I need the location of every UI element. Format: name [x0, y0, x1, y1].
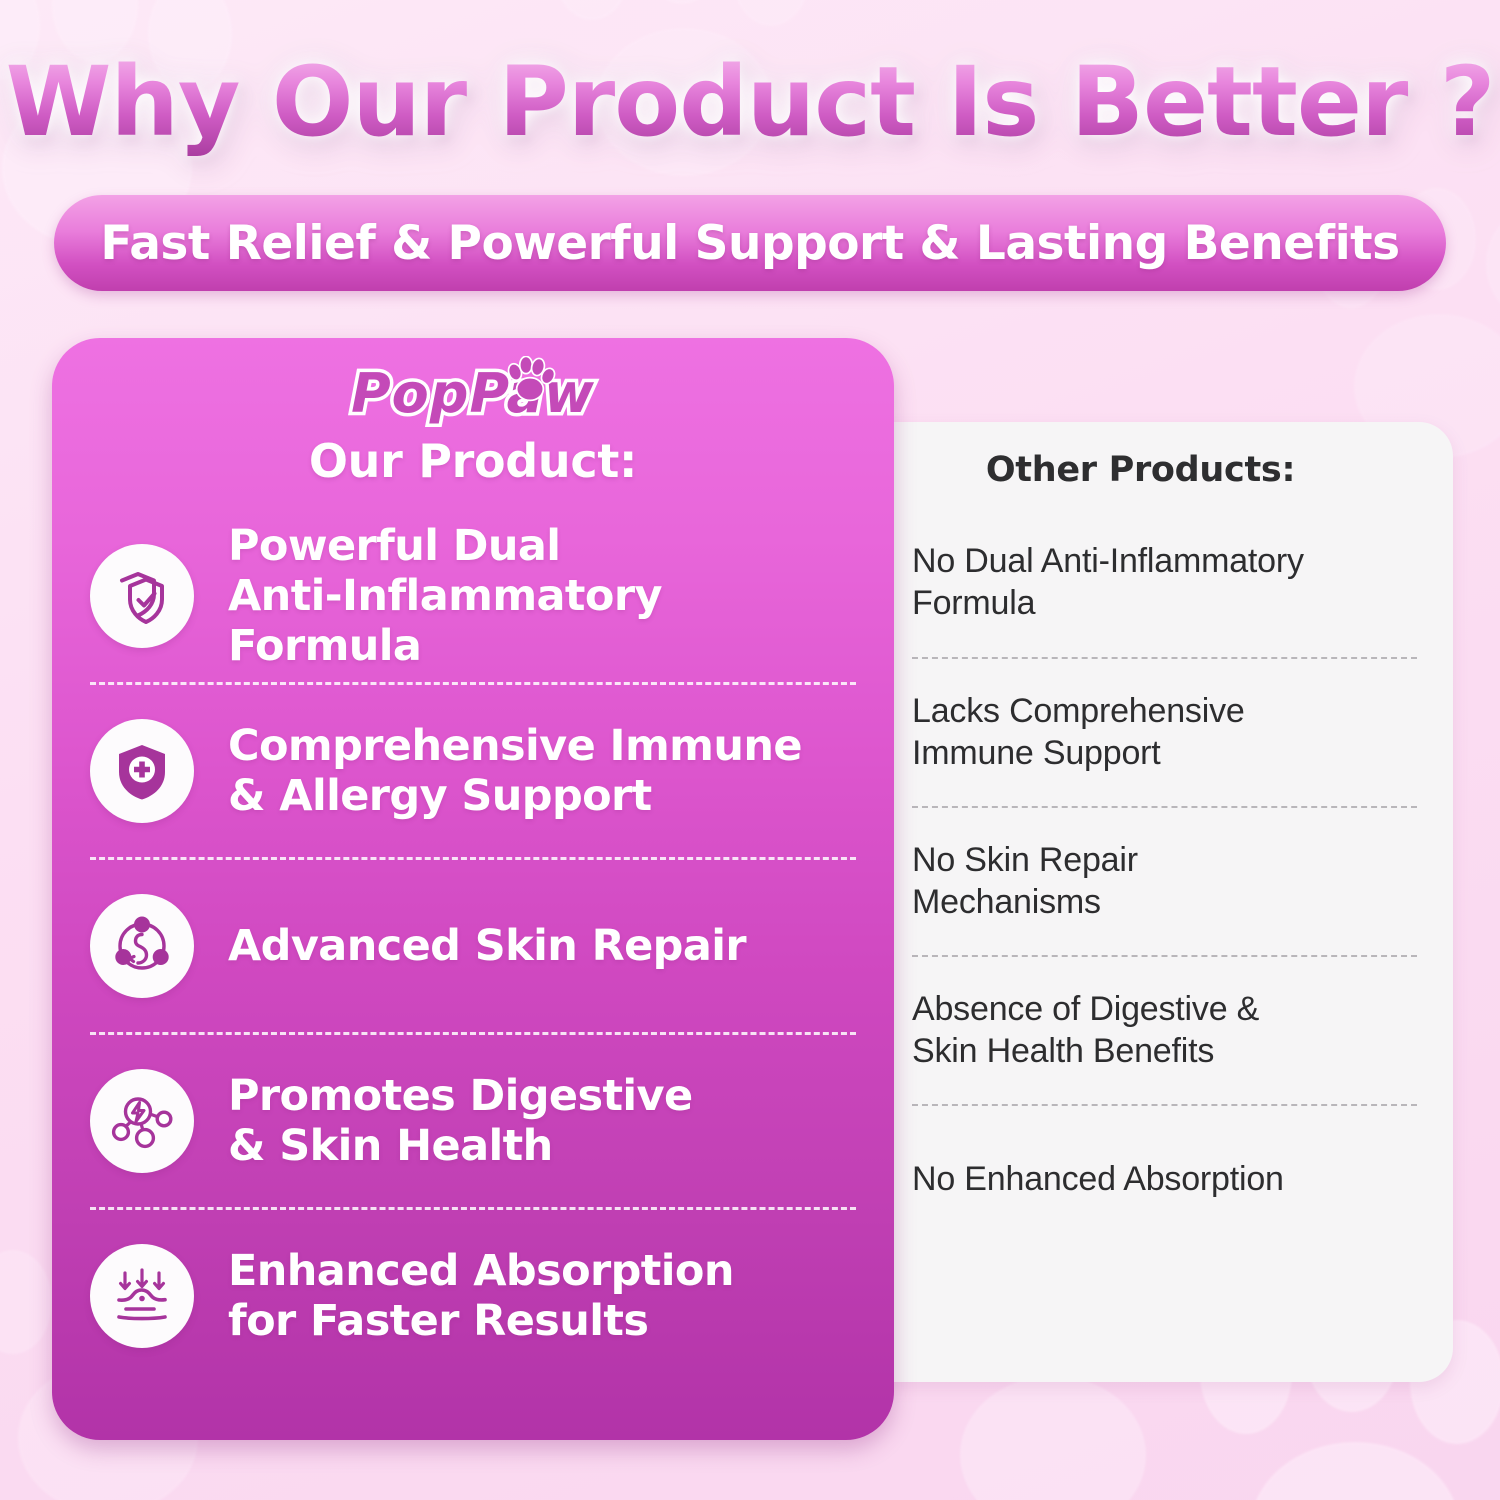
- other-products-panel: Other Products: No Dual Anti-Inflammator…: [828, 422, 1453, 1382]
- list-item-label: Lacks Comprehensive Immune Support: [912, 691, 1245, 774]
- list-item-line: for Faster Results: [228, 1296, 734, 1346]
- list-item-label: Enhanced Absorption for Faster Results: [228, 1246, 734, 1347]
- list-item-line: Enhanced Absorption: [228, 1246, 734, 1296]
- list-item: Advanced Skin Repair: [90, 857, 856, 1032]
- list-item-line: Powerful Dual: [228, 521, 856, 571]
- list-item: No Enhanced Absorption: [912, 1104, 1417, 1253]
- list-item-line: & Allergy Support: [228, 771, 802, 821]
- list-item-line: No Dual Anti-Inflammatory: [912, 541, 1304, 582]
- brand-name: PopPaw: [351, 362, 595, 425]
- molecule-lightning-icon: [90, 1069, 194, 1173]
- subtitle-text: Fast Relief & Powerful Support & Lasting…: [100, 216, 1399, 271]
- our-product-panel: PopPaw Our Product:: [52, 338, 894, 1440]
- other-products-list: No Dual Anti-Inflammatory Formula Lacks …: [828, 508, 1453, 1253]
- list-item-line: Comprehensive Immune: [228, 721, 802, 771]
- list-item-label: Absence of Digestive & Skin Health Benef…: [912, 989, 1259, 1072]
- list-item-label: No Dual Anti-Inflammatory Formula: [912, 541, 1304, 624]
- list-item-line: Formula: [912, 583, 1304, 624]
- subtitle-banner: Fast Relief & Powerful Support & Lasting…: [54, 195, 1446, 291]
- list-item-line: No Skin Repair: [912, 840, 1138, 881]
- list-item-line: Immune Support: [912, 733, 1245, 774]
- our-product-features-list: Powerful Dual Anti-Inflammatory Formula: [82, 510, 864, 1382]
- list-item: Comprehensive Immune & Allergy Support: [90, 682, 856, 857]
- list-item-label: Advanced Skin Repair: [228, 921, 746, 971]
- infographic-page: Why Our Product Is Better ? Fast Relief …: [0, 0, 1500, 1500]
- paw-print-icon: [505, 356, 557, 402]
- list-item: No Skin Repair Mechanisms: [912, 806, 1417, 955]
- double-shield-check-icon: [90, 544, 194, 648]
- list-item-line: Mechanisms: [912, 882, 1138, 923]
- list-item-line: Anti-Inflammatory Formula: [228, 571, 856, 672]
- list-item-line: Skin Health Benefits: [912, 1031, 1259, 1072]
- list-item-label: Comprehensive Immune & Allergy Support: [228, 721, 802, 822]
- list-item-line: Advanced Skin Repair: [228, 921, 746, 971]
- list-item-label: No Enhanced Absorption: [912, 1159, 1284, 1200]
- list-item: Enhanced Absorption for Faster Results: [90, 1207, 856, 1382]
- list-item-label: No Skin Repair Mechanisms: [912, 840, 1138, 923]
- list-item-line: No Enhanced Absorption: [912, 1159, 1284, 1200]
- other-products-header: Other Products:: [828, 422, 1453, 490]
- list-item: Absence of Digestive & Skin Health Benef…: [912, 955, 1417, 1104]
- molecule-stomach-icon: [90, 894, 194, 998]
- page-title: Why Our Product Is Better ?: [6, 46, 1495, 158]
- list-item-line: Promotes Digestive: [228, 1071, 693, 1121]
- list-item: Lacks Comprehensive Immune Support: [912, 657, 1417, 806]
- list-item: Powerful Dual Anti-Inflammatory Formula: [90, 510, 856, 682]
- our-product-heading: Our Product:: [309, 434, 637, 488]
- list-item: Promotes Digestive & Skin Health: [90, 1032, 856, 1207]
- shield-medical-cross-icon: [90, 719, 194, 823]
- brand-logo: PopPaw: [82, 354, 864, 432]
- absorption-arrows-icon: [90, 1244, 194, 1348]
- list-item: No Dual Anti-Inflammatory Formula: [912, 508, 1417, 657]
- list-item-label: Promotes Digestive & Skin Health: [228, 1071, 693, 1172]
- list-item-line: Absence of Digestive &: [912, 989, 1259, 1030]
- our-product-header: Our Product:: [82, 434, 864, 488]
- other-products-heading: Other Products:: [986, 450, 1295, 490]
- list-item-label: Powerful Dual Anti-Inflammatory Formula: [228, 521, 856, 672]
- page-title-container: Why Our Product Is Better ?: [0, 46, 1500, 158]
- list-item-line: Lacks Comprehensive: [912, 691, 1245, 732]
- list-item-line: & Skin Health: [228, 1121, 693, 1171]
